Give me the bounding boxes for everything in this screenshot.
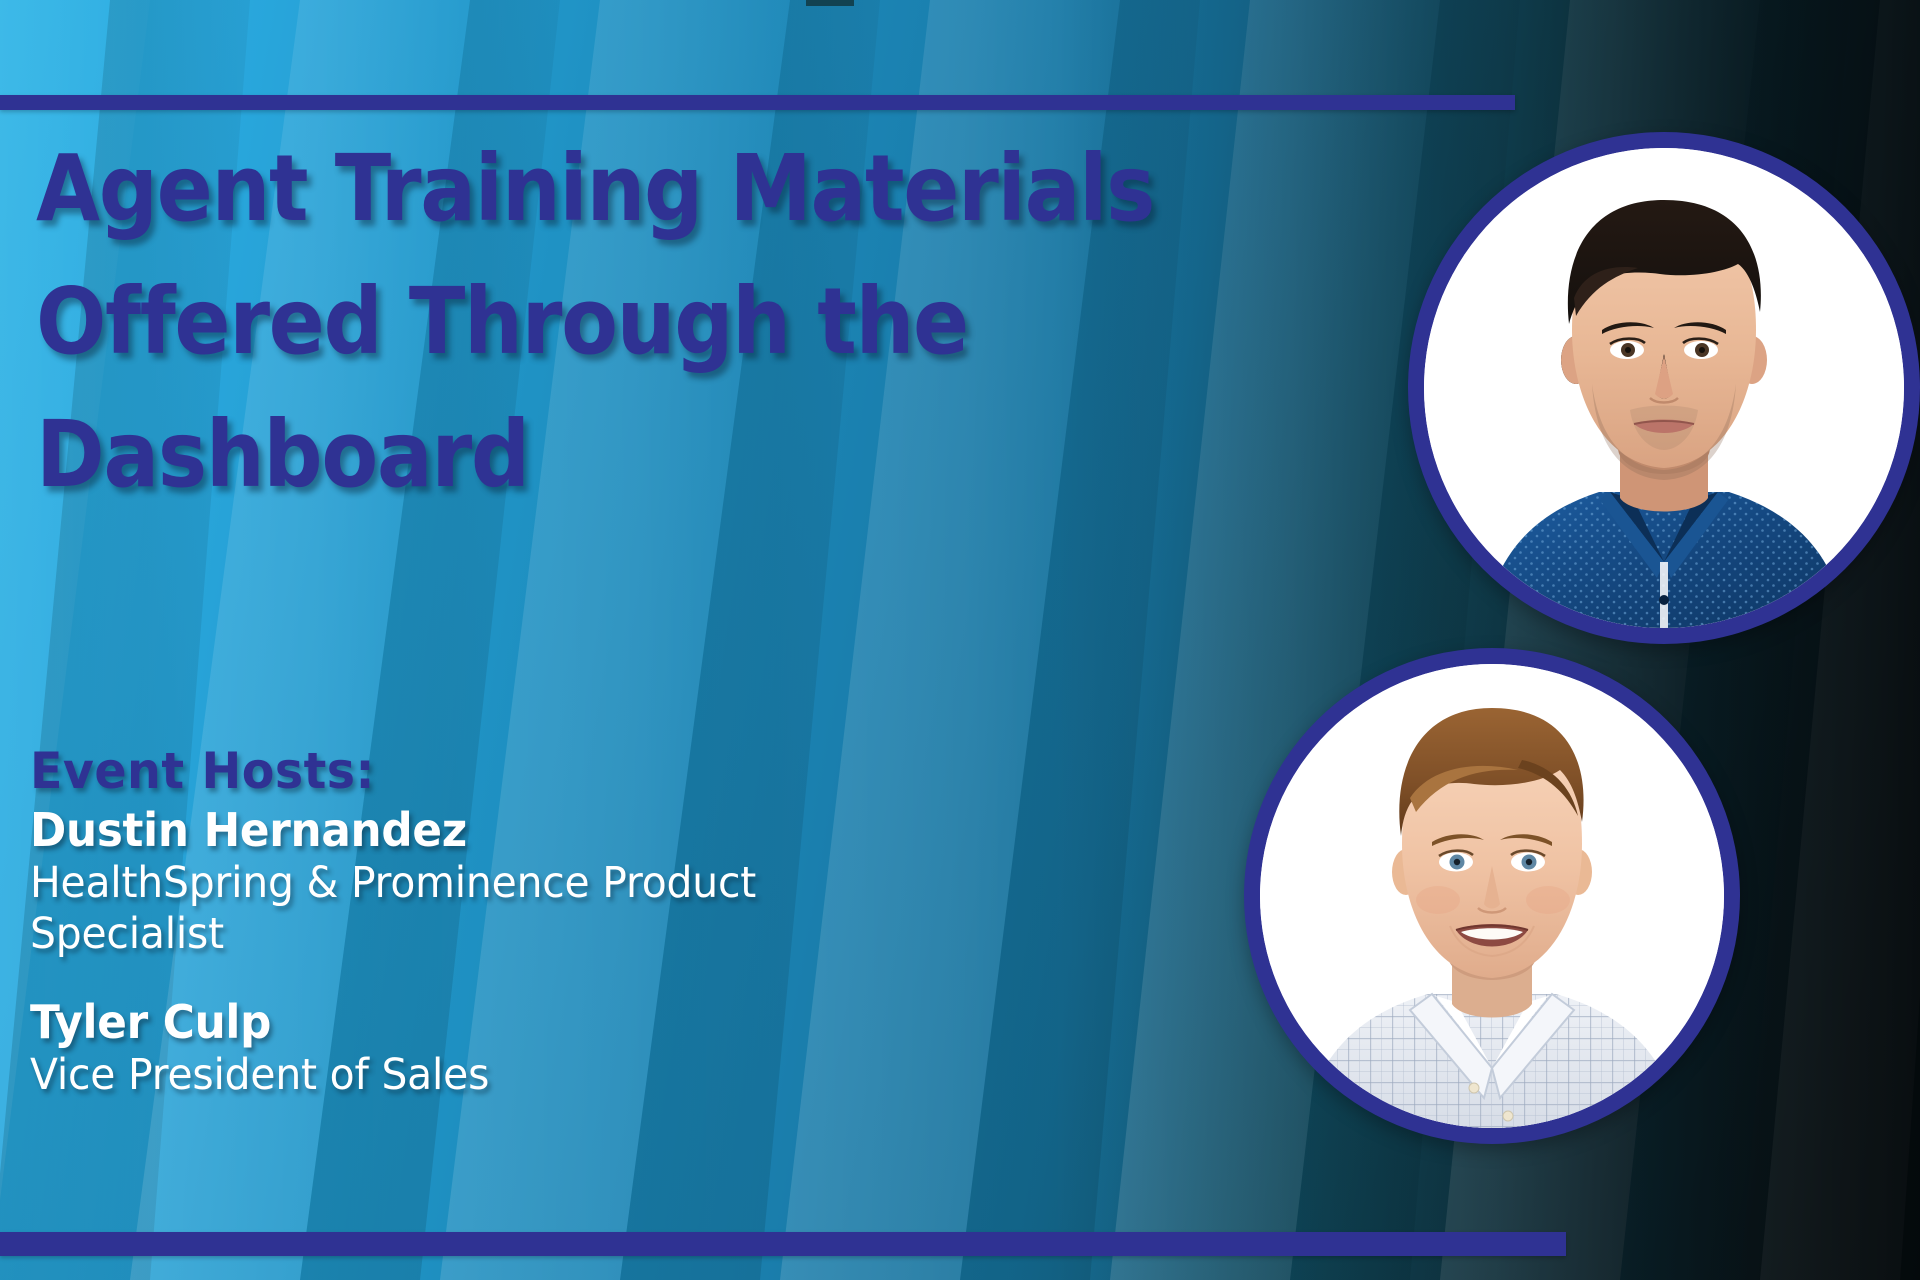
host-name-dustin: Dustin Hernandez xyxy=(30,802,980,858)
avatar-tyler-culp xyxy=(1244,648,1740,1144)
host-role-dustin-line-2: Specialist xyxy=(30,909,980,960)
host-entry-tyler: Tyler Culp Vice President of Sales xyxy=(30,994,1030,1101)
portrait-illustration-tyler xyxy=(1260,664,1724,1128)
host-role-dustin-line-1: HealthSpring & Prominence Product xyxy=(30,858,980,909)
event-hosts-section: Event Hosts: Dustin Hernandez HealthSpri… xyxy=(30,740,1030,1107)
title-line-2: Offered Through the xyxy=(36,255,1116,388)
divider-rule-top xyxy=(0,95,1515,110)
slide-canvas: Agent Training Materials Offered Through… xyxy=(0,0,1920,1280)
title-line-3: Dashboard xyxy=(36,388,1116,521)
host-name-tyler: Tyler Culp xyxy=(30,994,980,1050)
page-title: Agent Training Materials Offered Through… xyxy=(36,122,1236,521)
divider-rule-bottom xyxy=(0,1232,1566,1256)
portrait-illustration-dustin xyxy=(1424,148,1904,628)
host-role-tyler-line-1: Vice President of Sales xyxy=(30,1050,980,1101)
avatar-dustin-photo xyxy=(1424,148,1904,628)
host-entry-dustin: Dustin Hernandez HealthSpring & Prominen… xyxy=(30,802,1030,960)
avatar-tyler-photo xyxy=(1260,664,1724,1128)
title-line-1: Agent Training Materials xyxy=(36,122,1116,255)
event-hosts-label: Event Hosts: xyxy=(30,740,980,802)
avatar-dustin-hernandez xyxy=(1408,132,1920,644)
top-edge-artifact xyxy=(806,0,854,6)
